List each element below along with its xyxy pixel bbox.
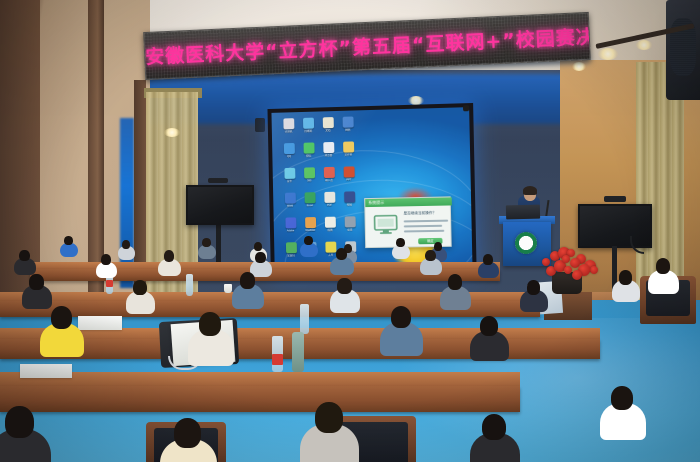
desktop-icon[interactable]: 微信 <box>299 142 319 164</box>
audience-person-r4-3-head <box>480 316 498 336</box>
audience-person-r1-6-head <box>396 238 404 247</box>
conference-hall-photo: 安徽医科大学“立方杯”第五届“互联网+”校园赛决赛 计算机回收站文档网络QQ微信… <box>0 0 700 462</box>
downlight-1 <box>598 48 618 60</box>
desktop-icon[interactable]: 输入法 <box>319 167 339 189</box>
desktop-icon-glyph <box>285 217 296 228</box>
downlight-4 <box>164 128 180 137</box>
audience-person-r5-2-head <box>315 402 343 433</box>
audience-person-r1-4-head <box>304 236 312 245</box>
audience-person-r2-4-head <box>336 248 347 260</box>
desktop-icon-label: 输入法 <box>319 179 339 182</box>
desktop-icon-glyph <box>344 216 355 227</box>
desktop-icon-label: WinRAR <box>300 229 320 232</box>
audience-person-r1-3-head <box>254 242 262 251</box>
podium-laptop <box>506 205 540 220</box>
monitor-icon <box>373 215 397 235</box>
desktop-icon-glyph <box>284 168 295 179</box>
audience-person-right-b-head <box>619 270 632 285</box>
audience-person-r3-1-head <box>133 280 147 295</box>
audience-person-r2-3-head <box>255 252 265 263</box>
desktop-icon-glyph <box>342 116 353 127</box>
tv-right-top-bracket <box>604 196 626 202</box>
audience-person-r2-0-head <box>19 250 29 261</box>
water-bottle-r3 <box>300 304 309 334</box>
desktop-icon-glyph <box>303 142 314 153</box>
audience-person-r2-6-head <box>483 254 493 265</box>
desktop-icon[interactable]: 文件夹 <box>338 141 358 163</box>
desktop-icon[interactable]: 文档 <box>318 117 338 139</box>
audience-person-r1-1-head <box>122 240 130 249</box>
thermos-r4 <box>292 332 304 372</box>
tv-left-panel <box>186 185 254 225</box>
audience-area <box>0 236 700 462</box>
desktop-icon-label: 截图 <box>320 229 340 232</box>
desktop-icon-label: 文档 <box>318 129 338 133</box>
audience-person-r2-2-head <box>164 250 175 262</box>
desktop-icon-glyph <box>322 117 333 128</box>
audience-person-r3-3-head <box>337 278 351 294</box>
desktop-icon-label: Word <box>280 204 300 207</box>
desktop-icon[interactable]: PPT <box>339 166 359 188</box>
desktop-icon[interactable]: Word <box>280 192 300 214</box>
audience-person-r5-0-head <box>5 406 34 438</box>
desktop-icon-label: QQ <box>279 155 299 158</box>
water-bottle-label-a <box>106 280 113 287</box>
audience-person-r3-4-head <box>448 274 463 290</box>
paper-cup-r2 <box>224 284 232 293</box>
desktop-icon-label: 设置 <box>340 228 360 231</box>
audience-person-r4-1-head <box>199 312 221 336</box>
desktop-icon[interactable]: Excel <box>300 192 320 214</box>
downlight-2 <box>636 40 652 50</box>
desktop-icon[interactable]: PDF <box>319 192 339 214</box>
desk-row-4 <box>0 386 520 412</box>
desktop-icon[interactable]: 音乐 <box>279 168 299 190</box>
wall-speaker-small <box>255 118 265 132</box>
audience-person-r3-5-head <box>527 280 540 295</box>
desktop-icon[interactable]: 计算机 <box>278 118 298 140</box>
desktop-icon-glyph <box>344 191 355 202</box>
desktop-icon-label: 浏览器 <box>319 154 339 157</box>
desk-row-4-top <box>0 372 520 386</box>
desktop-icon-label: 网络 <box>338 128 358 132</box>
desktop-icon-glyph <box>324 192 335 203</box>
water-bottle-label-r4 <box>272 354 283 365</box>
audience-person-r2-1-head <box>101 254 111 265</box>
desktop-icon[interactable]: 视频 <box>339 191 359 213</box>
presenter-hair <box>523 186 537 195</box>
desktop-icon-glyph <box>304 167 315 178</box>
audience-person-right-a-head <box>656 258 671 274</box>
desktop-icon-label: PPT <box>339 178 359 181</box>
dialog-body-lines <box>404 212 449 236</box>
water-bottle-r2-b <box>186 274 193 296</box>
desktop-icon-label: 360 <box>299 179 319 182</box>
desktop-icon[interactable]: 360 <box>299 167 319 189</box>
desktop-icon-label: 视频 <box>339 203 359 206</box>
desktop-icon-glyph <box>283 118 294 129</box>
desktop-icon[interactable]: QQ <box>279 143 299 165</box>
audience-person-r5-1-head <box>174 418 201 448</box>
desktop-icon[interactable]: 浏览器 <box>318 142 338 164</box>
desktop-icon-label: 回收站 <box>298 129 318 133</box>
audience-person-r4-0-head <box>51 306 72 329</box>
desktop-icon-glyph <box>324 217 335 228</box>
dialog-title-bar: 系统提示 <box>365 197 452 207</box>
desktop-icon-glyph <box>323 167 334 178</box>
audience-person-r5-3-head <box>482 414 506 440</box>
audience-person-r3-2-head <box>240 272 255 289</box>
desktop-icon-glyph <box>284 193 295 204</box>
audience-person-r2-5-head <box>425 250 435 261</box>
desktop-icon-glyph <box>303 118 314 129</box>
audience-person-r1-0-head <box>64 236 72 245</box>
desktop-icon-label: 文件夹 <box>338 153 358 156</box>
desktop-icon-glyph <box>304 192 315 203</box>
desktop-icon-label: PDF <box>320 204 340 207</box>
desktop-icon-glyph <box>283 143 294 154</box>
desktop-icon-label: 音乐 <box>280 180 300 183</box>
desktop-icon-label: 微信 <box>299 154 319 157</box>
audience-person-r1-2-head <box>202 238 210 247</box>
tv-left-top-bracket <box>208 178 228 183</box>
screen-bezel-sensor <box>463 105 469 111</box>
audience-person-r1-7-head <box>434 242 442 251</box>
audience-person-r4-2-head <box>391 306 411 328</box>
desktop-icon-label: Excel <box>300 204 320 207</box>
paper-notes-r4 <box>20 364 72 378</box>
desktop-icon-glyph <box>323 142 334 153</box>
paper-notes-r3 <box>78 316 122 330</box>
desktop-icon[interactable]: 回收站 <box>298 118 318 140</box>
desktop-icon[interactable]: 网络 <box>338 116 358 138</box>
desktop-icon-glyph <box>305 217 316 228</box>
desktop-icon-label: 计算机 <box>279 130 299 134</box>
audience-person-r5-4-head <box>611 386 633 410</box>
audience-person-r3-0-head <box>29 274 43 290</box>
desktop-icon-glyph <box>343 166 354 177</box>
desktop-icon-label: Adobe <box>281 229 301 232</box>
desktop-icon-glyph <box>343 141 354 152</box>
